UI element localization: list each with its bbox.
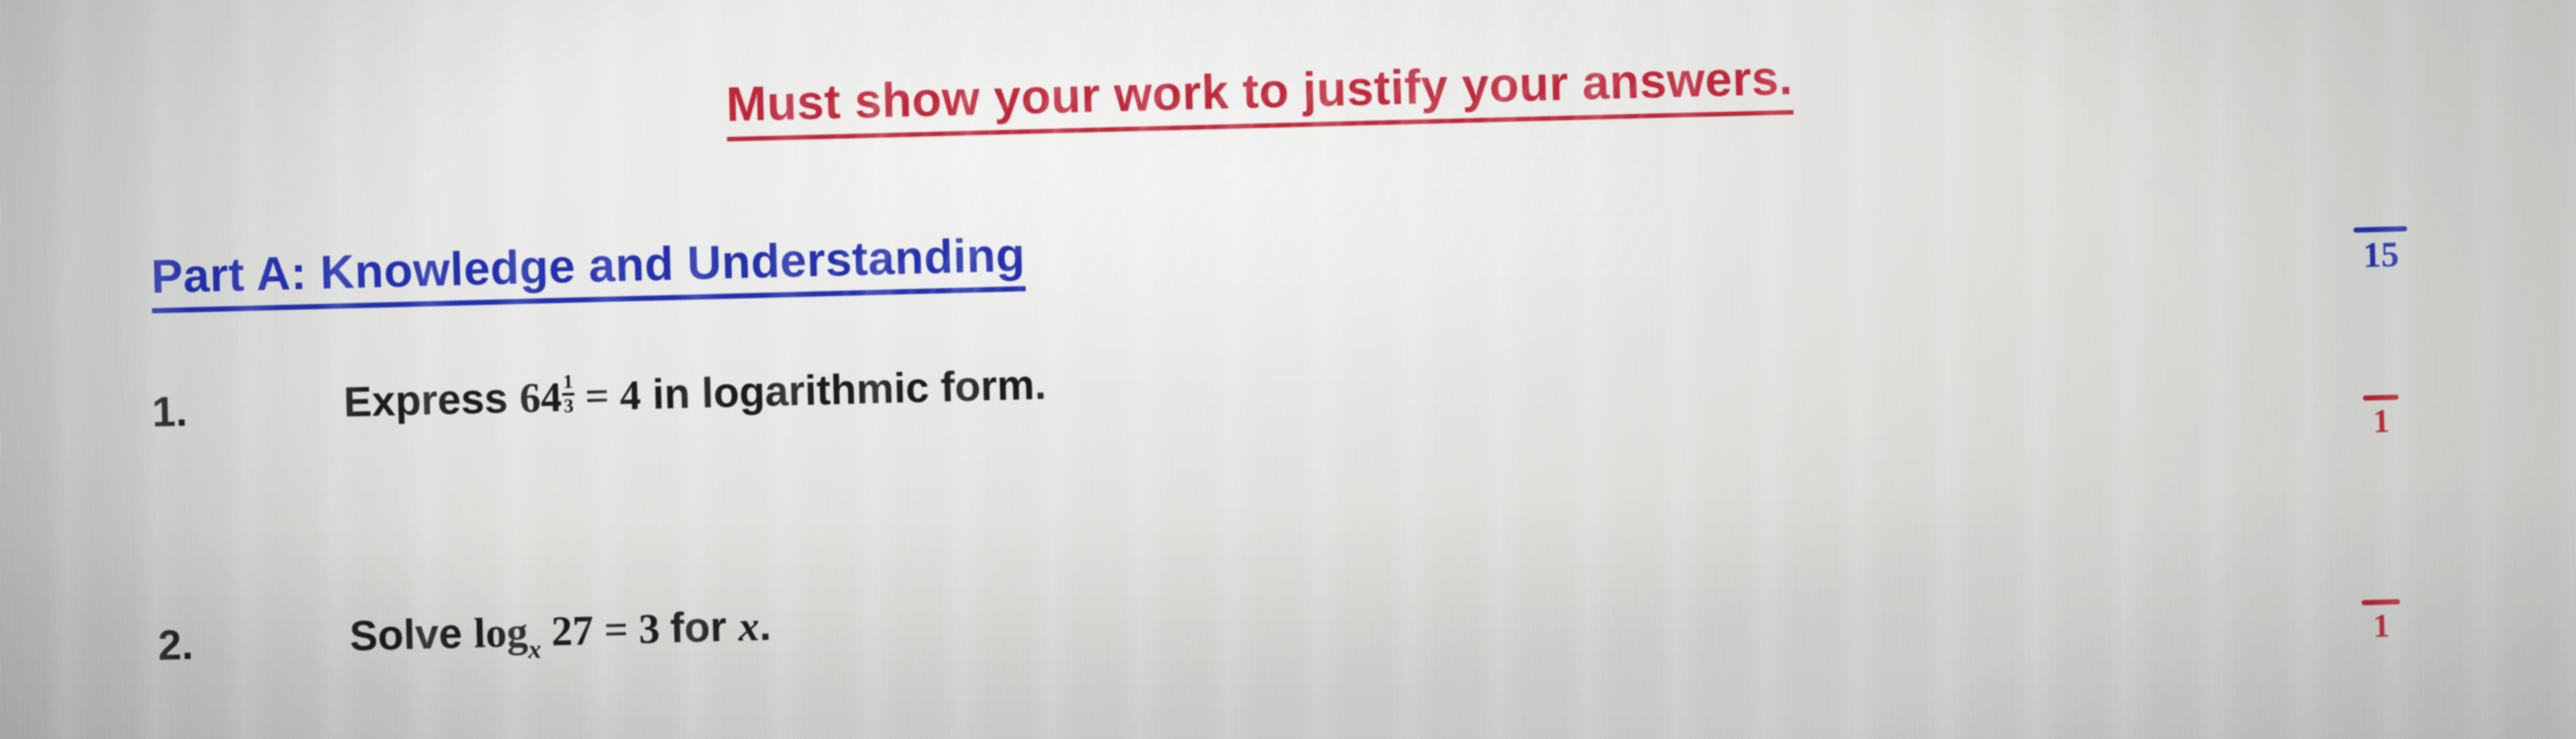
question-1-suffix: in logarithmic form. (640, 361, 1047, 418)
grade-mark-denominator: 15 (2363, 237, 2399, 273)
exponent-numerator: 1 (562, 372, 575, 392)
question-2-text: Solve logx 27 = 3 for x. (349, 604, 772, 665)
grade-mark-question-2: 1 (2362, 599, 2401, 643)
exponent-denominator: 3 (563, 396, 575, 416)
grade-mark-denominator: 1 (2373, 405, 2390, 439)
grade-mark-question-1: 1 (2363, 394, 2400, 439)
question-1-text: Express 64 1 3 = 4 in logarithmic form. (343, 363, 1047, 430)
worksheet-page: W JUUKI Must show your work to justify y… (0, 0, 2576, 739)
question-2-argument: 27 = 3 (540, 605, 671, 655)
grade-mark-denominator: 1 (2373, 610, 2390, 644)
question-1-relation: = 4 (574, 372, 641, 421)
photographed-screen-scene: W JUUKI Must show your work to justify y… (0, 0, 2576, 739)
section-heading-part-a: Part A: Knowledge and Understanding (151, 231, 1026, 314)
question-2-suffix: for (670, 602, 739, 651)
question-2-prefix: Solve (349, 609, 474, 660)
question-2-log-base-subscript: x (528, 635, 542, 664)
question-2-log-function: log (473, 609, 528, 657)
question-2-variable: x (738, 603, 760, 650)
grade-mark-out-of-15: 15 (2354, 226, 2409, 274)
question-2-number: 2. (157, 623, 194, 666)
header-notice: Must show your work to justify your answ… (725, 54, 1794, 141)
grade-mark-bar (2354, 226, 2407, 233)
question-1-base: 64 (519, 374, 563, 422)
question-1-number: 1. (151, 390, 188, 433)
question-1-exponent-fraction: 1 3 (562, 372, 575, 416)
question-1-prefix: Express (343, 374, 520, 426)
worksheet-content: W JUUKI Must show your work to justify y… (3, 0, 2576, 737)
grade-mark-bar (2363, 394, 2398, 400)
question-2-period: . (759, 602, 772, 649)
grade-mark-bar (2362, 599, 2400, 605)
